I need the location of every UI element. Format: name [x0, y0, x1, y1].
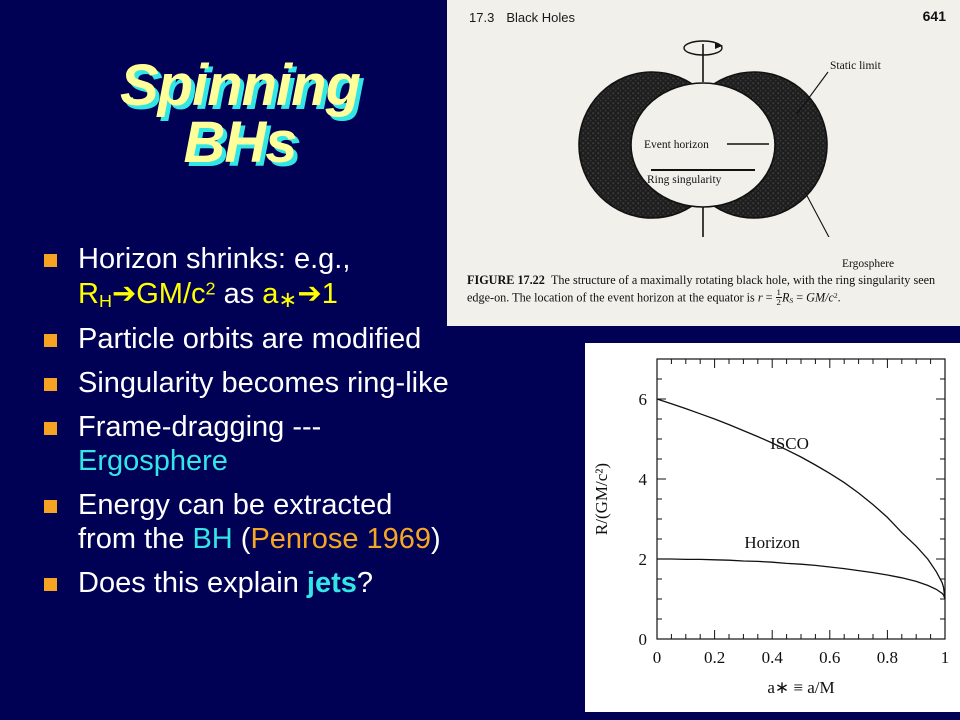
curve-label-horizon: Horizon	[744, 533, 800, 552]
label-ergosphere: Ergosphere	[842, 258, 894, 270]
text-question-mark: ?	[357, 567, 373, 599]
bullet-text-frame-dragging: Frame-dragging ---	[78, 411, 596, 445]
y-tick-label: 2	[639, 550, 648, 569]
paren-open: (	[233, 523, 251, 555]
x-tick-label: 0.2	[704, 648, 725, 667]
caption-eq-equals-1: =	[763, 291, 776, 305]
bullet-text-energy-extracted: Energy can be extracted	[78, 489, 596, 523]
isco-horizon-plot-panel: 00.20.40.60.810246a∗ ≡ a/MR/(GM/c²)ISCOH…	[585, 343, 960, 712]
formula-c-exponent: 2	[206, 279, 216, 299]
label-static-limit: Static limit	[830, 60, 881, 72]
list-item[interactable]: Singularity becomes ring-like	[36, 367, 596, 401]
label-event-horizon: Event horizon	[644, 139, 709, 151]
black-hole-diagram: Static limit Event horizon Ring singular…	[447, 22, 960, 237]
bullet-square-icon	[44, 334, 57, 347]
formula-a: a	[262, 278, 278, 310]
formula-R: R	[78, 278, 99, 310]
curve-label-isco: ISCO	[770, 434, 809, 453]
label-ring-singularity: Ring singularity	[647, 174, 721, 186]
bullet-square-icon	[44, 578, 57, 591]
text-bh: BH	[192, 523, 232, 555]
bullet-square-icon	[44, 422, 57, 435]
y-tick-label: 6	[639, 390, 648, 409]
black-hole-svg	[447, 22, 960, 237]
citation-penrose-1969: Penrose 1969	[250, 523, 431, 555]
bullet-text-penrose-line: from the BH (Penrose 1969)	[78, 523, 596, 557]
textbook-figure-panel: 17.3Black Holes 641	[447, 0, 960, 326]
bullet-text-particle-orbits: Particle orbits are modified	[78, 323, 596, 357]
formula-R-sub: H	[99, 291, 112, 311]
figure-caption: FIGURE 17.22 The structure of a maximall…	[467, 272, 945, 307]
curve-isco	[657, 399, 945, 599]
x-tick-label: 0.6	[819, 648, 840, 667]
list-item[interactable]: Frame-dragging --- Ergosphere	[36, 411, 596, 479]
x-tick-label: 0.4	[762, 648, 784, 667]
plot-text-labels: 00.20.40.60.810246a∗ ≡ a/MR/(GM/c²)ISCOH…	[592, 390, 949, 697]
text-does-this-explain: Does this explain	[78, 567, 307, 599]
list-item[interactable]: Does this explain jets?	[36, 567, 596, 601]
y-tick-label: 0	[639, 630, 648, 649]
caption-period: .	[838, 291, 841, 305]
plot-curves	[657, 399, 945, 599]
page-title: Spinning BHs	[40, 58, 440, 172]
arrow-icon: ➔	[112, 276, 136, 310]
paren-close: )	[431, 523, 441, 555]
formula-one: 1	[322, 278, 338, 310]
plot-axes	[657, 359, 945, 639]
bullet-square-icon	[44, 254, 57, 267]
bullet-square-icon	[44, 378, 57, 391]
bullet-text-ergosphere: Ergosphere	[78, 445, 596, 479]
list-item[interactable]: Energy can be extracted from the BH (Pen…	[36, 489, 596, 557]
slide-canvas: Spinning BHs Horizon shrinks: e.g., RH➔G…	[0, 0, 960, 720]
caption-figure-number: FIGURE 17.22	[467, 273, 545, 287]
x-axis-label: a∗ ≡ a/M	[767, 678, 834, 697]
plot-frame	[657, 359, 945, 639]
caption-eq-GM: GM/c	[806, 291, 834, 305]
y-tick-label: 4	[639, 470, 648, 489]
caption-eq-equals-2: =	[793, 291, 806, 305]
text-jets: jets	[307, 567, 357, 599]
formula-as-word: as	[216, 278, 263, 310]
curve-horizon	[657, 559, 945, 599]
arrow-icon: ➔	[297, 276, 321, 310]
list-item[interactable]: Particle orbits are modified	[36, 323, 596, 357]
text-from-the: from the	[78, 523, 192, 555]
x-tick-label: 0	[653, 648, 662, 667]
formula-GM-c: GM/c	[136, 278, 205, 310]
isco-horizon-chart: 00.20.40.60.810246a∗ ≡ a/MR/(GM/c²)ISCOH…	[585, 343, 960, 712]
x-tick-label: 0.8	[877, 648, 898, 667]
bullet-text-jets-question: Does this explain jets?	[78, 567, 596, 601]
formula-a-star: ∗	[278, 287, 297, 312]
x-tick-label: 1	[941, 648, 950, 667]
leader-ergosphere	[805, 192, 840, 237]
bullet-square-icon	[44, 500, 57, 513]
y-axis-label: R/(GM/c²)	[592, 463, 611, 535]
bullet-text-singularity-ring: Singularity becomes ring-like	[78, 367, 596, 401]
